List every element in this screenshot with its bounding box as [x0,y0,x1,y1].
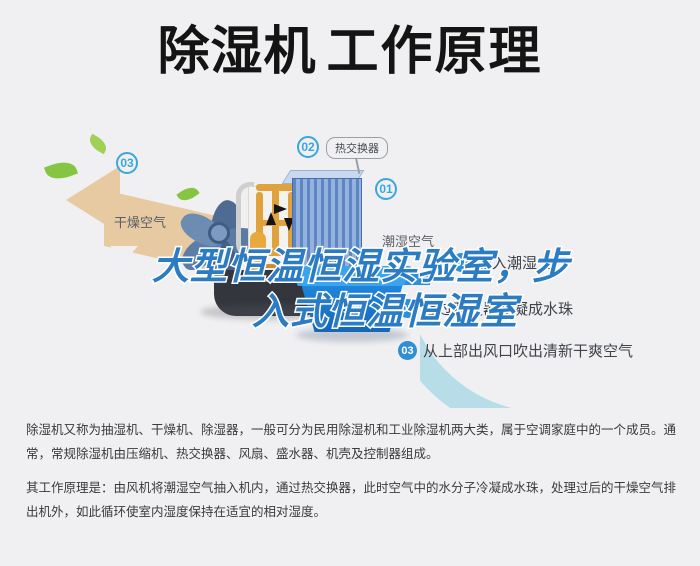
heat-exchanger-label: 热交换器 [335,143,379,155]
dry-air-label: 干燥空气 [114,212,166,231]
step-text: 吸入潮湿空气 [477,252,567,273]
step-item-02: 02 经过蒸发器冷凝成水珠 [398,298,573,319]
heat-exchanger-icon [248,170,364,278]
description-copy: 除湿机又称为抽湿机、干燥机、除湿器，一般可分为民用除湿机和工业除湿机两大类，属于… [26,418,676,524]
badge-03-dry-air: 03 [116,152,138,174]
badge-02-heat-exchanger: 02 [297,136,319,158]
water-tank: 水箱 [294,266,414,344]
page-title: 除湿机工作原理 [0,22,700,82]
water-tank-label: 水箱 [294,298,410,315]
humid-air-label: 潮湿空气 [382,231,434,250]
heat-exchanger-callout: 热交换器 [326,137,388,159]
dehumidifier-diagram: 水箱 03 干燥空气 02 热交换器 01 潮湿空气 [0,118,700,408]
badge-01-humid-air: 01 [375,178,397,200]
title-part-2: 工作原理 [327,23,543,81]
step-badge: 03 [398,341,417,360]
description-paragraph-1: 除湿机又称为抽湿机、干燥机、除湿器，一般可分为民用除湿机和工业除湿机两大类，属于… [26,418,676,466]
leaf-icon [86,134,109,154]
step-text: 经过蒸发器冷凝成水珠 [423,298,573,319]
step-badge: 02 [398,299,417,318]
title-part-1: 除湿机 [157,23,316,81]
step-badge: 01 [452,253,471,272]
step-text: 从上部出风口吹出清新干爽空气 [423,340,633,361]
step-item-01: 01 吸入潮湿空气 [452,252,567,273]
description-paragraph-2: 其工作原理是：由风机将潮湿空气抽入机内，通过热交换器，此时空气中的水分子冷凝成水… [26,476,676,524]
step-item-03: 03 从上部出风口吹出清新干爽空气 [398,340,633,361]
